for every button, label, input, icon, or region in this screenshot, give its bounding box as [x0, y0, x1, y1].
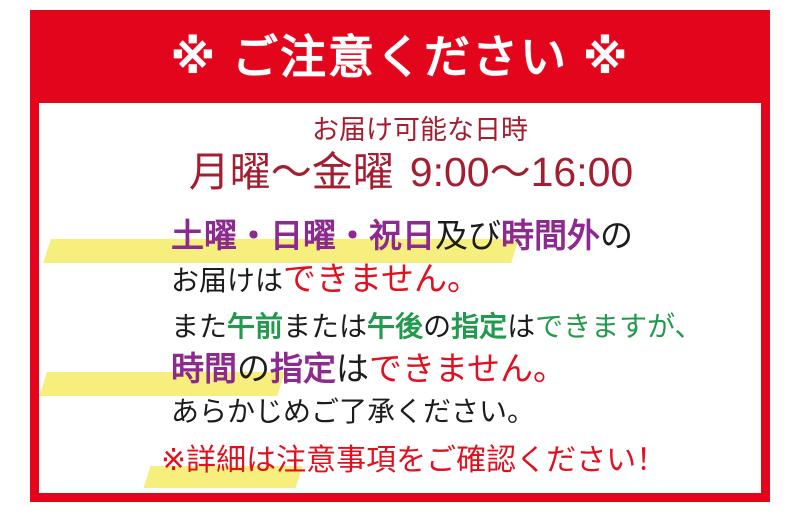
notice-header-title: ※ ご注意ください ※ [171, 34, 630, 80]
ampm-prefix: また [171, 311, 227, 342]
details-prefix: ※詳細は [161, 444, 276, 477]
closed-days-emphasis: 土曜・日曜・祝日 [171, 217, 435, 254]
time-particle-wa: は [336, 350, 369, 387]
ampm-allowed-row: また午前または午後の指定はできますが、 [39, 313, 761, 341]
ampm-morning-emphasis: 午前 [227, 311, 283, 342]
ampm-possible-text: できますが、 [535, 311, 702, 342]
closed-hours-emphasis: 時間外 [501, 217, 600, 254]
notice-header-banner: ※ ご注意ください ※ [30, 10, 770, 103]
acknowledgement-text: あらかじめご了承ください。 [171, 396, 535, 427]
time-particle-no: の [237, 350, 270, 387]
delivery-hours-row: 月曜～金曜9:00～16:00 [39, 152, 761, 193]
no-delivery-emphasis: できません。 [283, 260, 480, 297]
details-terms-emphasis: 注意事項 [276, 444, 396, 477]
acknowledgement-row: あらかじめご了承ください。 [39, 398, 761, 426]
ampm-afternoon-emphasis: 午後 [367, 311, 423, 342]
no-delivery-prefix: お届けは [171, 265, 283, 296]
closed-days-row: 土曜・日曜・祝日及び時間外の [39, 219, 761, 252]
closed-days-conjunction: 及び [435, 217, 501, 254]
ampm-designation-emphasis: 指定 [451, 311, 507, 342]
time-not-possible-emphasis: できません。 [369, 350, 566, 387]
no-time-designation-row: 時間の指定はできません。 [39, 352, 761, 385]
ampm-particle-wa: は [507, 311, 535, 342]
delivery-availability-label: お届け可能な日時 [312, 115, 528, 145]
details-reference-row: ※詳細は注意事項をご確認ください！ [39, 446, 761, 476]
delivery-availability-subtitle: お届け可能な日時 [39, 117, 761, 144]
time-designation-emphasis: 指定 [270, 350, 336, 387]
time-emphasis: 時間 [171, 350, 237, 387]
closed-days-particle: の [600, 217, 633, 254]
details-suffix: をご確認ください！ [396, 444, 666, 477]
notice-card: ※ ご注意ください ※ お届け可能な日時 月曜～金曜9:00～16:00 土曜・… [30, 10, 770, 502]
no-delivery-row: お届けはできません。 [39, 262, 761, 295]
delivery-days-value: 月曜～金曜 [189, 149, 394, 195]
notice-body: お届け可能な日時 月曜～金曜9:00～16:00 土曜・日曜・祝日及び時間外の … [39, 103, 761, 493]
ampm-particle-no: の [423, 311, 451, 342]
ampm-or: または [283, 311, 367, 342]
delivery-time-value: 9:00～16:00 [410, 149, 633, 195]
